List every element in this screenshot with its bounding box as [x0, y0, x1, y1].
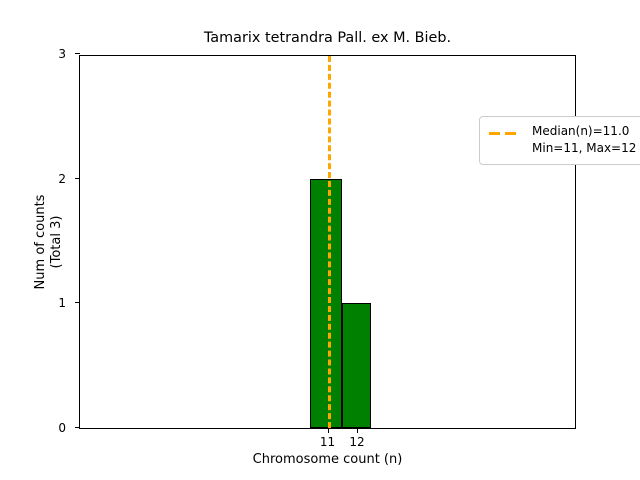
- y-axis-label-line1: Num of counts: [33, 55, 49, 429]
- chart-figure: Tamarix tetrandra Pall. ex M. Bieb. 0 1 …: [0, 0, 640, 480]
- bar-11: [310, 179, 342, 428]
- legend: Median(n)=11.0 Min=11, Max=12: [479, 116, 640, 165]
- xtick-label-11: 11: [320, 436, 335, 449]
- chart-title: Tamarix tetrandra Pall. ex M. Bieb.: [79, 30, 576, 47]
- x-axis-label: Chromosome count (n): [79, 452, 576, 467]
- legend-label-median: Median(n)=11.0: [532, 123, 640, 140]
- xtick-mark-11: [328, 428, 329, 433]
- y-axis-label-line2: (Total 3): [49, 55, 65, 429]
- legend-text: Median(n)=11.0 Min=11, Max=12: [532, 123, 640, 157]
- plot-area: 0 1 2 3 11 12 Median(n)=: [79, 55, 576, 429]
- xtick-label-12: 12: [349, 436, 364, 449]
- y-axis-label: Num of counts (Total 3): [33, 55, 73, 429]
- bar-12: [342, 303, 371, 428]
- xtick-mark-12: [357, 428, 358, 433]
- median-line: [328, 56, 331, 428]
- ytick-mark-3: 3: [75, 53, 80, 54]
- legend-label-range: Min=11, Max=12: [532, 140, 640, 157]
- legend-median-line-swatch: [489, 125, 523, 141]
